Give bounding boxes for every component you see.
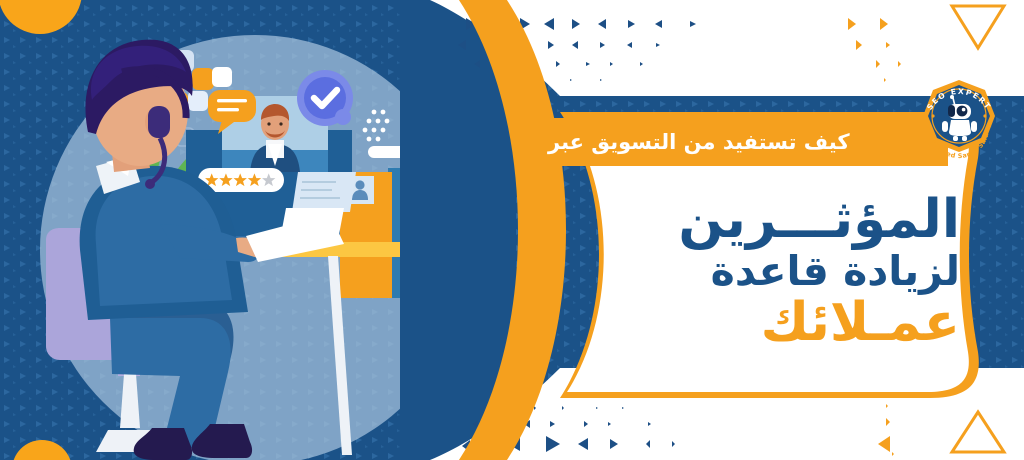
- headline-line-1: المؤثـــرين: [560, 192, 960, 248]
- logo-dot-left: [931, 114, 934, 117]
- headline-line-2: لزيادة قاعدة: [560, 250, 960, 293]
- headline-line-3: عمـلائك: [560, 295, 960, 351]
- headline-kicker: كيف تستفيد من التسويق عبر: [548, 129, 850, 155]
- logo-dot-right: [983, 114, 986, 117]
- kicker-text-wrap: كيف تستفيد من التسويق عبر: [548, 118, 938, 166]
- banner-root: كيف تستفيد من التسويق عبر المؤثـــرين لز…: [0, 0, 1024, 460]
- logo-badge[interactable]: SEO EXPERT Mohamed Samir Said: [913, 76, 1005, 172]
- logo-svg: SEO EXPERT Mohamed Samir Said: [913, 76, 1005, 172]
